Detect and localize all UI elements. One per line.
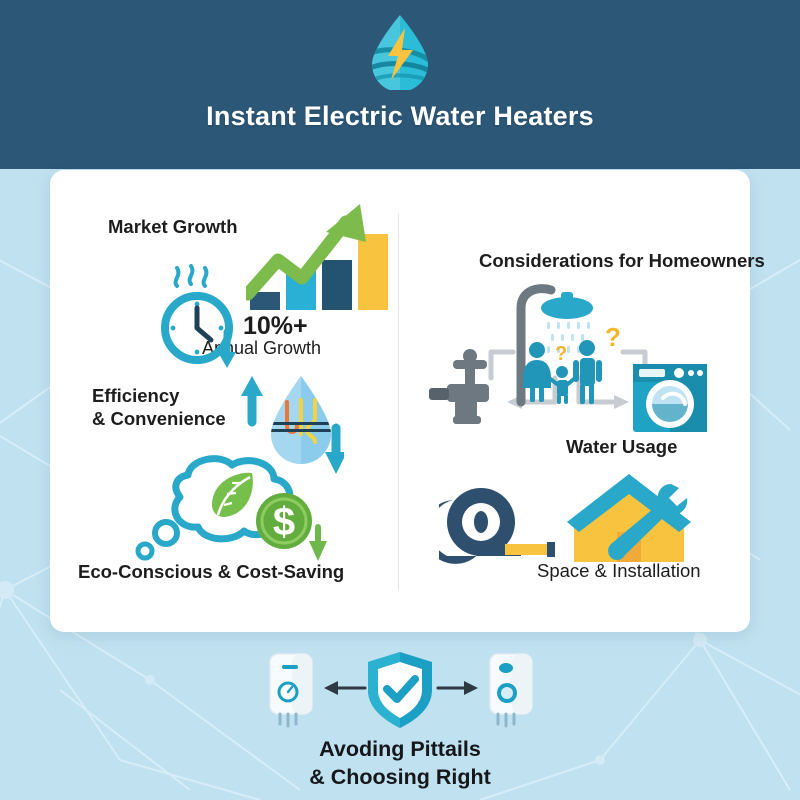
tape-measure-icon (439, 488, 555, 564)
space-installation-label: Space & Installation (537, 560, 701, 583)
space-installation-icons (439, 470, 709, 570)
infographic-page: Instant Electric Water Heaters Market Gr… (0, 0, 800, 800)
shower-family-faucet-washer-icon: ? ? (427, 278, 727, 433)
water-heater-left-icon (270, 654, 312, 726)
svg-text:$: $ (273, 500, 295, 544)
clock-steam-icon (145, 258, 263, 376)
svg-text:?: ? (605, 322, 621, 352)
svg-text:?: ? (555, 343, 567, 365)
arrow-left-icon (324, 681, 365, 695)
water-drop-lightning-bolt-logo (358, 12, 442, 90)
water-usage-label: Water Usage (566, 436, 677, 459)
eco-leaf-thought-bubble-dollar-icon: $ (128, 453, 336, 571)
page-title: Instant Electric Water Heaters (0, 101, 800, 132)
market-growth-label: Market Growth (108, 216, 238, 239)
eco-cost-saving-label: Eco-Conscious & Cost-Saving (78, 561, 344, 584)
bar-chart-growth-arrow-icon (246, 198, 394, 318)
efficiency-label-line2: & Convenience (92, 408, 226, 429)
efficiency-label-line1: Efficiency (92, 385, 179, 406)
house-wrench-icon (567, 474, 691, 562)
considerations-label: Considerations for Homeowners (479, 250, 765, 273)
pitfalls-caption-line1: Avoding Pittails (319, 737, 481, 761)
avoiding-pitfalls-caption: Avoding Pittails & Choosing Right (0, 735, 800, 792)
arrow-right-icon (438, 681, 478, 695)
market-growth-panel: Market Growth 10%+ Annual Growth (50, 170, 398, 632)
pitfalls-diagram (250, 648, 550, 732)
pitfalls-caption-line2: & Choosing Right (309, 765, 491, 789)
homeowner-considerations-panel: Considerations for Homeowners (399, 170, 750, 632)
main-content-card: Market Growth 10%+ Annual Growth (50, 170, 750, 632)
efficiency-label: Efficiency & Convenience (92, 385, 226, 430)
shield-check-icon (368, 652, 432, 728)
avoiding-pitfalls-section: Avoding Pittails & Choosing Right (0, 640, 800, 800)
water-heater-right-icon (490, 654, 532, 726)
